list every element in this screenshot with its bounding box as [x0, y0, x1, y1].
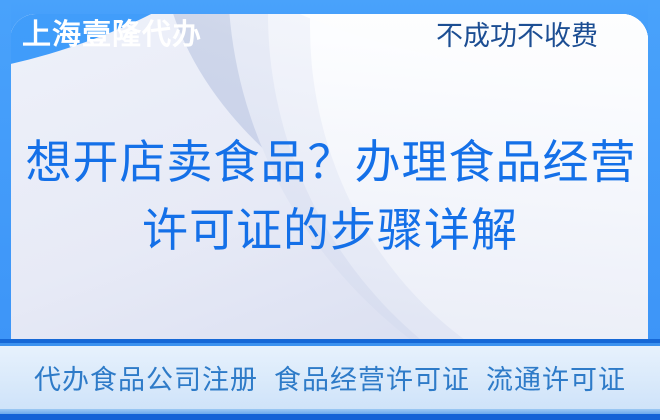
keyword-bar: 代办食品公司注册 食品经营许可证 流通许可证: [0, 339, 660, 420]
keyword-list: 代办食品公司注册 食品经营许可证 流通许可证: [0, 346, 660, 409]
page-title: 想开店卖食品？办理食品经营 许可证的步骤详解: [0, 128, 660, 264]
keyword-item-1: 代办食品公司注册: [34, 358, 258, 397]
slogan-text: 不成功不收费: [436, 17, 598, 55]
headline-line-2: 许可证的步骤详解: [0, 196, 660, 264]
keyword-item-3: 流通许可证: [486, 358, 626, 397]
keyword-bar-bottom-rule: [0, 414, 660, 420]
promo-banner: 上海壹隆代办 不成功不收费 想开店卖食品？办理食品经营 许可证的步骤详解 代办食…: [0, 0, 660, 420]
brand-name: 上海壹隆代办: [22, 16, 202, 54]
keyword-item-2: 食品经营许可证: [274, 358, 470, 397]
headline-line-1: 想开店卖食品？办理食品经营: [0, 128, 660, 196]
